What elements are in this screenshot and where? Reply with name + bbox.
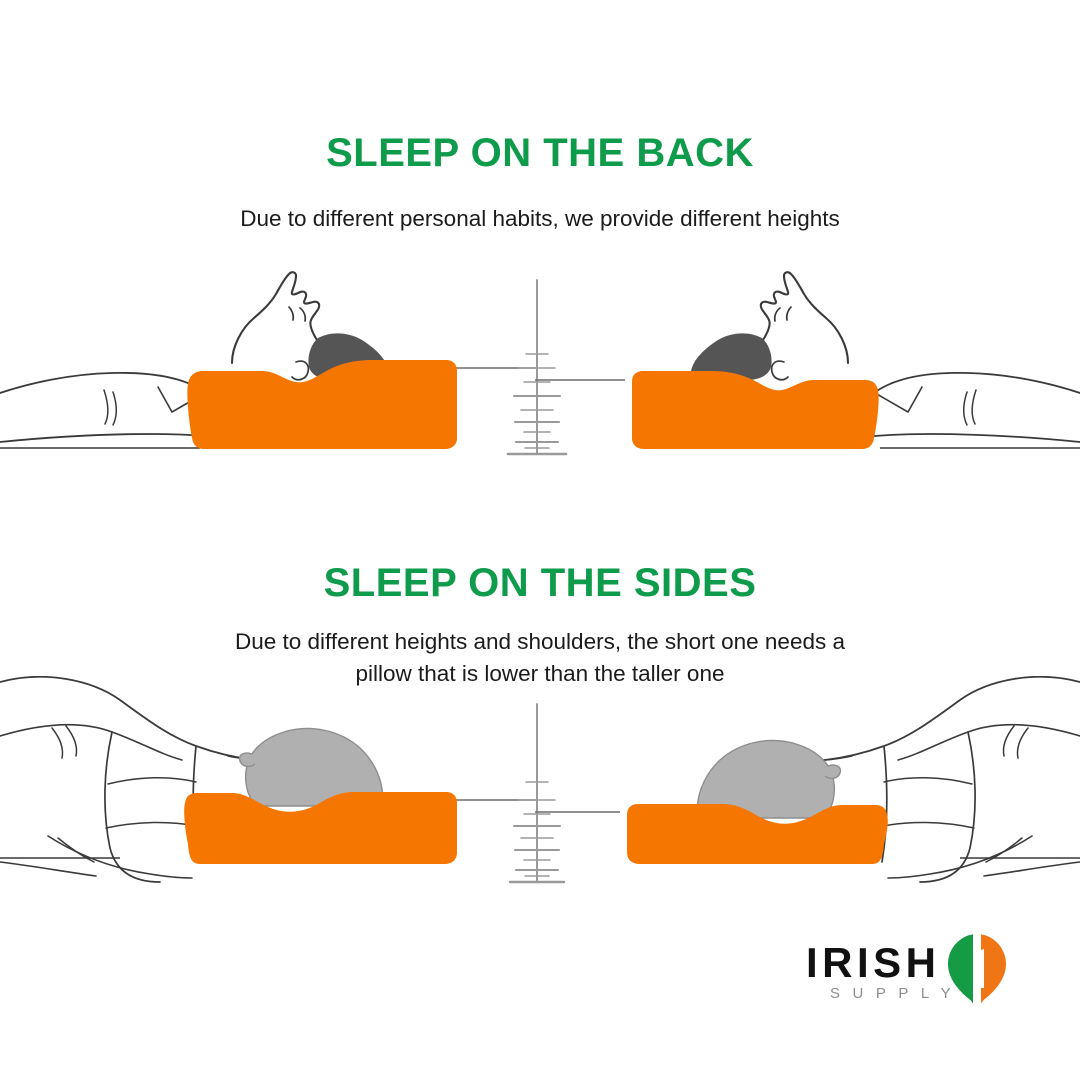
logo-primary-text: IRISH: [806, 942, 941, 984]
back-right-figure: [535, 272, 1080, 449]
back-left-figure: [0, 272, 537, 449]
side-right-figure: [535, 677, 1080, 882]
section-title-sleep-on-the-sides: SLEEP ON THE SIDES: [0, 561, 1080, 606]
section-subtitle-sleep-on-the-back: Due to different personal habits, we pro…: [0, 203, 1080, 235]
side-left-figure: [0, 677, 537, 882]
subtitle-line-1: Due to different heights and shoulders, …: [0, 626, 1080, 658]
back-left-pillow: [187, 360, 457, 449]
side-left-pillow: [184, 792, 457, 864]
center-height-ruler-sides: [510, 704, 564, 882]
side-sleeping-illustration: [0, 676, 1080, 926]
irish-flag-teardrop-icon: [944, 932, 1010, 1014]
back-right-pillow: [632, 371, 879, 449]
section-title-sleep-on-the-back: SLEEP ON THE BACK: [0, 131, 1080, 176]
center-height-ruler: [508, 280, 566, 454]
back-sleeping-illustration: [0, 262, 1080, 492]
poster-root: SLEEP ON THE BACK Due to different perso…: [0, 0, 1080, 1080]
brand-logo: IRISH SUPPLY: [806, 938, 1006, 1016]
